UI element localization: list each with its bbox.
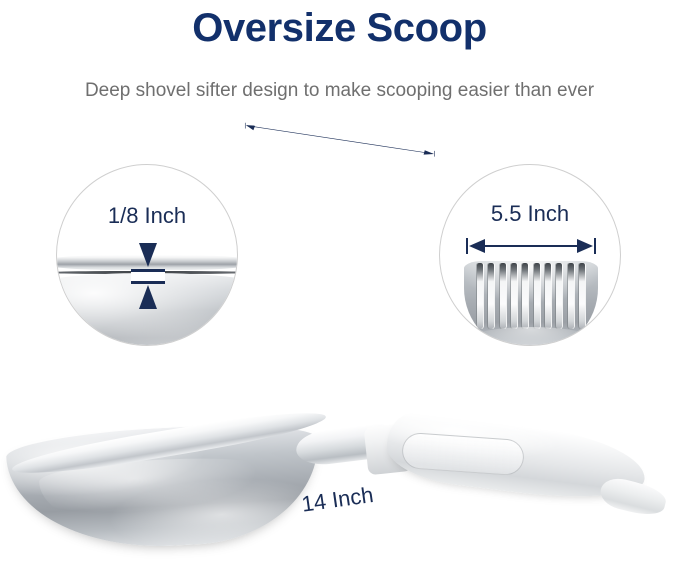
sifter-slot [556,263,562,329]
thickness-arrow-top-icon [139,243,157,267]
sifter-slot [545,263,551,329]
callout-width: 5.5 Inch [439,164,621,346]
callout-thickness: 1/8 Inch [56,164,238,346]
callout-thickness-label: 1/8 Inch [57,203,237,229]
sifter-slot [488,263,494,329]
dimension-cap-left [466,238,468,254]
page-title: Oversize Scoop [0,4,679,52]
sifter-sheen [472,327,590,346]
length-arrowhead-left-icon [246,125,255,130]
handle-tip [597,474,668,519]
sifter-slot [511,263,517,329]
thickness-gap-marker [131,269,165,284]
product-photo [0,400,679,563]
dimension-line [474,245,588,247]
sifter-slot [477,263,483,329]
thickness-arrow-bottom-icon [139,285,157,309]
header: Oversize Scoop Deep shovel sifter design… [0,0,679,120]
arrowhead-right-icon [577,239,593,253]
dimension-cap-right [594,238,596,254]
length-line [247,126,433,154]
sifter-slot [568,263,574,329]
sifter-slot [522,263,528,329]
callout-width-label: 5.5 Inch [440,201,620,227]
sifter-scoop-photo [464,261,598,346]
sifter-slot [500,263,506,329]
sifter-slot [579,263,585,329]
sifter-slots [477,263,585,329]
length-arrowhead-right-icon [424,150,434,154]
page-subtitle: Deep shovel sifter design to make scoopi… [0,78,679,104]
arrowhead-left-icon [469,239,485,253]
width-dimension-arrow-icon [466,237,596,255]
sifter-slot [534,263,540,329]
